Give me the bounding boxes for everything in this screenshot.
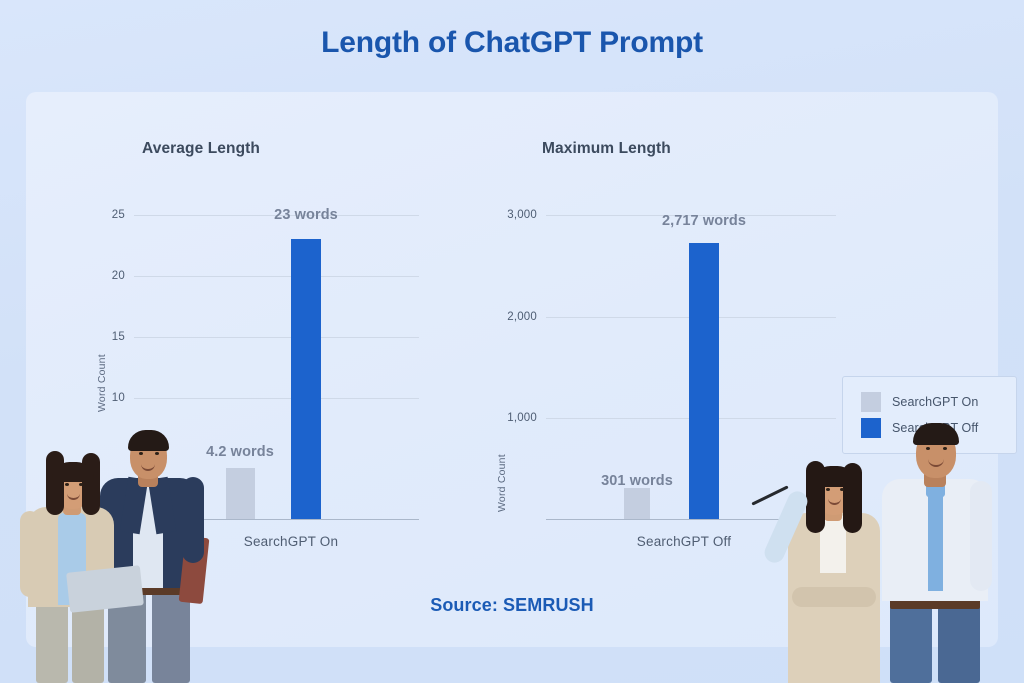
eye-left-icon bbox=[139, 452, 143, 455]
hair-left-strand bbox=[46, 451, 64, 515]
bar-value-label-off-maximum: 2,717 words bbox=[662, 213, 746, 229]
laptop bbox=[66, 565, 144, 613]
photo-right-business-pair bbox=[724, 383, 1014, 683]
eye-right-icon bbox=[943, 447, 947, 450]
y-axis-label-maximum: Word Count bbox=[496, 454, 508, 512]
infographic-canvas: Length of ChatGPT Prompt Average Length … bbox=[0, 0, 1024, 683]
eye-right-icon bbox=[155, 452, 159, 455]
chart-title-maximum: Maximum Length bbox=[542, 140, 671, 158]
eye-left-icon bbox=[65, 483, 69, 486]
necktie bbox=[928, 491, 943, 591]
bar-searchgpt-on-maximum bbox=[624, 488, 650, 519]
x-category-label-average: SearchGPT On bbox=[244, 534, 338, 549]
ytick-label: 15 bbox=[112, 331, 125, 343]
arm-crossed bbox=[792, 587, 876, 607]
gridline-15: 15 bbox=[134, 337, 419, 338]
eye-right-icon bbox=[79, 483, 83, 486]
ytick-label: 20 bbox=[112, 270, 125, 282]
gridline-20: 20 bbox=[134, 276, 419, 277]
page-title: Length of ChatGPT Prompt bbox=[0, 26, 1024, 60]
arm-right bbox=[970, 481, 992, 591]
jeans-right bbox=[938, 605, 980, 683]
person-woman-pointer bbox=[772, 435, 898, 683]
arm-right bbox=[182, 477, 204, 563]
trousers-left bbox=[36, 603, 68, 683]
eye-right-icon bbox=[840, 488, 844, 491]
ytick-label: 1,000 bbox=[507, 412, 537, 424]
arm-left bbox=[20, 511, 40, 597]
bar-searchgpt-off-maximum bbox=[689, 243, 719, 519]
hair-top bbox=[52, 462, 94, 482]
x-category-label-maximum: SearchGPT Off bbox=[637, 534, 731, 549]
photo-left-business-pair bbox=[8, 393, 248, 683]
ytick-label: 3,000 bbox=[507, 209, 537, 221]
bar-searchgpt-off-average bbox=[291, 239, 321, 519]
trousers-right bbox=[72, 603, 104, 683]
person-woman-beige-blazer bbox=[16, 455, 126, 683]
hair bbox=[128, 430, 169, 451]
hair bbox=[913, 423, 959, 445]
trousers-right bbox=[152, 591, 190, 683]
bar-value-label-off-average: 23 words bbox=[274, 207, 338, 223]
hair-right-strand bbox=[82, 453, 100, 515]
eye-left-icon bbox=[926, 447, 930, 450]
pointer-stick bbox=[751, 485, 788, 505]
bar-value-label-on-maximum: 301 words bbox=[601, 473, 673, 489]
chart-title-average: Average Length bbox=[142, 140, 260, 158]
ytick-label: 2,000 bbox=[507, 311, 537, 323]
ytick-label: 25 bbox=[112, 209, 125, 221]
eye-left-icon bbox=[826, 488, 830, 491]
